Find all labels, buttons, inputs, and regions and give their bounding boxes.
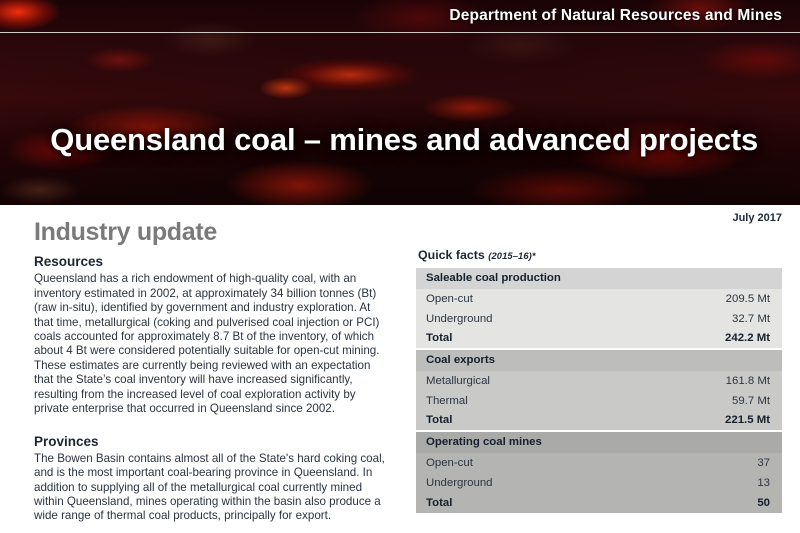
table-total-row: Total 50 [416,493,782,513]
table-section-header-label: Coal exports [416,350,782,371]
publication-title: Queensland coal – mines and advanced pro… [50,122,758,158]
row-label: Total [416,411,599,431]
table-row: Open-cut 209.5 Mt [416,289,782,309]
section-paragraph-provinces-1: The Bowen Basin contains almost all of t… [34,452,392,524]
row-label: Open-cut [416,453,599,473]
row-label: Total [416,493,599,513]
section-heading-resources: Resources [34,254,392,270]
row-value: 50 [599,493,782,513]
article-column: Industry update Resources Queensland has… [34,219,392,533]
row-value: 13 [599,473,782,493]
quick-facts-title-label: Quick facts [418,248,485,262]
section-heading-provinces: Provinces [34,434,392,450]
department-title: Department of Natural Resources and Mine… [449,7,782,25]
row-label: Underground [416,309,599,329]
table-section-header-label: Operating coal mines [416,432,782,453]
row-value: 59.7 Mt [599,391,782,411]
row-value: 37 [599,453,782,473]
quick-facts-title: Quick facts (2015–16)* [418,249,782,263]
table-row: Underground 32.7 Mt [416,309,782,329]
quick-facts-table-saleable-coal-production: Saleable coal production Open-cut 209.5 … [416,268,782,350]
page-title: Industry update [34,219,392,245]
table-section-header-row: Operating coal mines [416,432,782,453]
table-row: Open-cut 37 [416,453,782,473]
hero-banner: Department of Natural Resources and Mine… [0,0,800,205]
row-label: Underground [416,473,599,493]
quick-facts-table-coal-exports: Coal exports Metallurgical 161.8 Mt Ther… [416,350,782,432]
quick-facts-period: (2015–16)* [488,250,535,261]
section-spacer [34,427,392,434]
row-value: 221.5 Mt [599,411,782,431]
row-label: Total [416,329,599,349]
table-total-row: Total 242.2 Mt [416,329,782,349]
table-total-row: Total 221.5 Mt [416,411,782,431]
issue-date: July 2017 [732,212,782,224]
row-label: Thermal [416,391,599,411]
row-value: 32.7 Mt [599,309,782,329]
table-row: Underground 13 [416,473,782,493]
quick-facts-panel: Quick facts (2015–16)* Saleable coal pro… [416,249,782,513]
banner-vignette-overlay [0,0,800,205]
table-section-header-row: Saleable coal production [416,268,782,289]
row-value: 209.5 Mt [599,289,782,309]
header-rule [0,32,800,33]
section-paragraph-resources: Queensland has a rich endowment of high-… [34,272,392,416]
table-row: Thermal 59.7 Mt [416,391,782,411]
quick-facts-table-operating-coal-mines: Operating coal mines Open-cut 37 Undergr… [416,432,782,513]
document-page: Department of Natural Resources and Mine… [0,0,800,533]
table-section-header-row: Coal exports [416,350,782,371]
row-label: Open-cut [416,289,599,309]
table-section-header-label: Saleable coal production [416,268,782,289]
row-value: 161.8 Mt [599,371,782,391]
page-content: July 2017 Industry update Resources Quee… [0,205,800,533]
row-value: 242.2 Mt [599,329,782,349]
table-row: Metallurgical 161.8 Mt [416,371,782,391]
row-label: Metallurgical [416,371,599,391]
